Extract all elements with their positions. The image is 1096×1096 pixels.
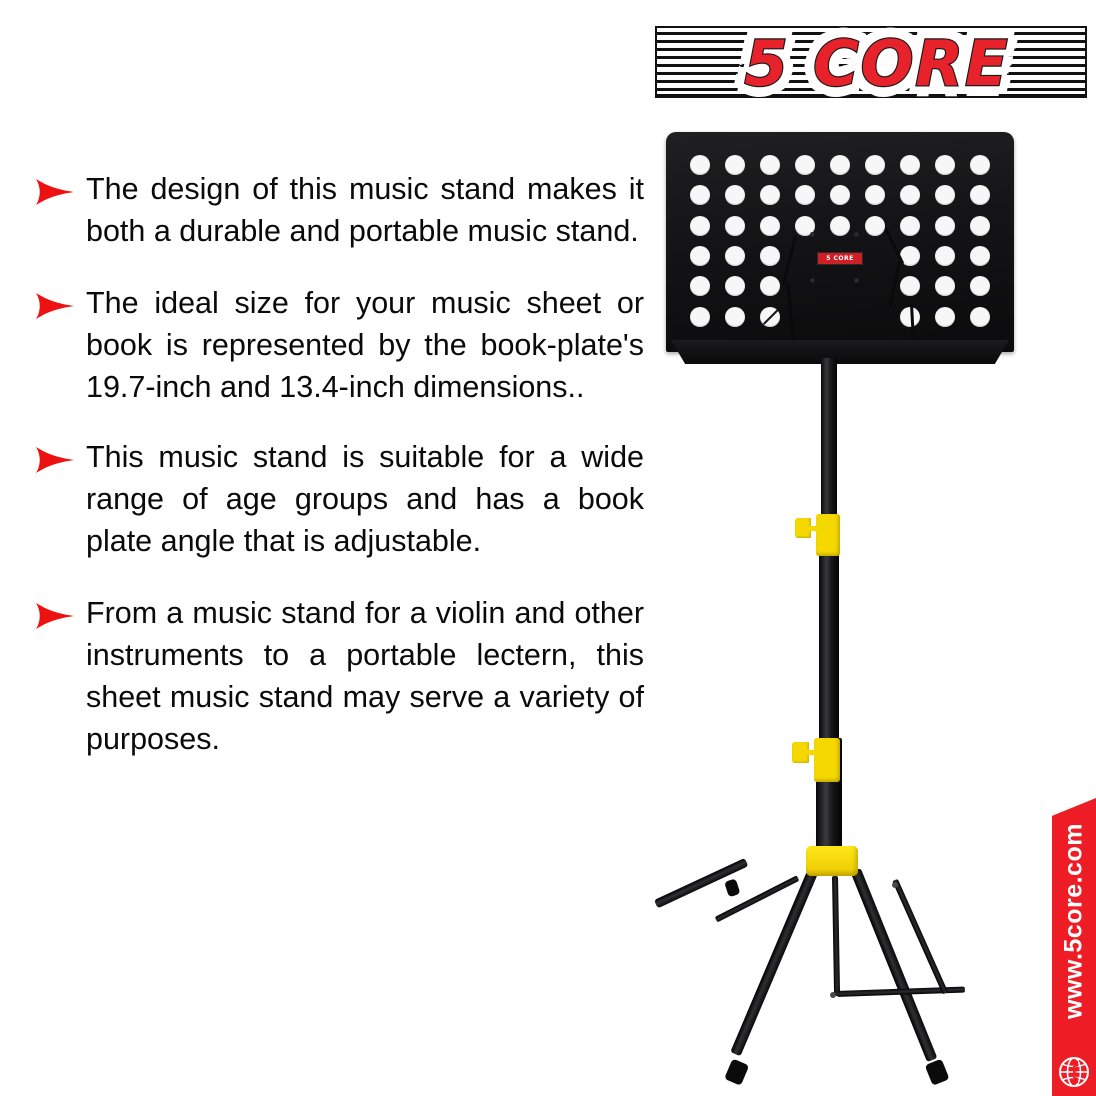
brand-logo-text: 5 CORE [707, 18, 1047, 108]
plate-screw [810, 232, 815, 237]
tripod-joint-bottom [830, 992, 836, 998]
plate-hole [725, 246, 745, 266]
plate-hole [970, 246, 990, 266]
plate-hole [795, 185, 815, 205]
book-plate-lip [664, 340, 1016, 364]
plate-hole [900, 185, 920, 205]
plate-hole [760, 307, 780, 327]
music-stand-photo: 5 CORE [640, 118, 1040, 1078]
red-arrow-bullet-icon [34, 601, 76, 631]
plate-hole [970, 307, 990, 327]
tripod-foot-back-left [724, 878, 740, 897]
plate-hole [830, 276, 850, 296]
plate-hole [690, 185, 710, 205]
brand-logo: 5 CORE 5 CORE 5 CORE [655, 22, 1087, 102]
plate-hole [690, 307, 710, 327]
plate-hole [900, 155, 920, 175]
list-item-label: The design of this music stand makes it … [86, 168, 644, 252]
website-banner[interactable]: www.5core.com www [1052, 798, 1096, 1096]
height-clamp-lower[interactable] [814, 738, 840, 782]
plate-hole [690, 155, 710, 175]
plate-hole [935, 246, 955, 266]
plate-hole [970, 155, 990, 175]
plate-hole [900, 216, 920, 236]
tripod-leg-front-left [730, 868, 818, 1056]
height-clamp-lower-stem [802, 750, 818, 755]
list-item: From a music stand for a violin and othe… [34, 592, 644, 760]
list-item: The ideal size for your music sheet or b… [34, 282, 644, 408]
plate-hole [760, 246, 780, 266]
plate-hole [795, 246, 815, 266]
plate-brand-label: 5 CORE [817, 252, 863, 265]
plate-hole [725, 216, 745, 236]
red-arrow-bullet-icon [34, 445, 76, 475]
plate-hole [900, 276, 920, 296]
plate-hole [865, 307, 885, 327]
plate-hole [865, 246, 885, 266]
plate-hole [830, 155, 850, 175]
tripod-leg-right [850, 868, 937, 1062]
promo-image-canvas: 5 CORE 5 CORE 5 CORE The design of this … [0, 0, 1096, 1096]
www-globe-icon: www [1058, 1056, 1090, 1088]
red-arrow-bullet-icon [34, 291, 76, 321]
plate-hole [970, 276, 990, 296]
plate-hole [865, 155, 885, 175]
feature-list: The design of this music stand makes it … [34, 168, 644, 760]
plate-hole [935, 307, 955, 327]
plate-hole [760, 185, 780, 205]
plate-hole [865, 185, 885, 205]
plate-hole [865, 216, 885, 236]
plate-hole [935, 276, 955, 296]
plate-hole [690, 276, 710, 296]
list-item: This music stand is suitable for a wide … [34, 436, 644, 562]
tripod-collar [806, 846, 858, 876]
list-item-label: From a music stand for a violin and othe… [86, 592, 644, 760]
tripod-joint-right [892, 882, 898, 888]
plate-hole [725, 276, 745, 296]
book-plate-hole-grid [682, 150, 998, 332]
list-item: The design of this music stand makes it … [34, 168, 644, 252]
plate-hole [830, 185, 850, 205]
plate-hole [830, 216, 850, 236]
plate-hole [725, 185, 745, 205]
plate-hole [760, 216, 780, 236]
list-item-label: The ideal size for your music sheet or b… [86, 282, 644, 408]
book-plate: 5 CORE [666, 132, 1014, 352]
tripod-foot-front-left [724, 1058, 749, 1085]
list-item-label: This music stand is suitable for a wide … [86, 436, 644, 562]
height-clamp-upper-stem [804, 526, 820, 531]
plate-hole [970, 216, 990, 236]
plate-hole [865, 276, 885, 296]
plate-hole [690, 246, 710, 266]
plate-hole [725, 155, 745, 175]
plate-hole [795, 155, 815, 175]
plate-screw [854, 278, 859, 283]
plate-hole [935, 155, 955, 175]
plate-hole [935, 185, 955, 205]
plate-screw [810, 278, 815, 283]
plate-hole [935, 216, 955, 236]
svg-text:www: www [1071, 1060, 1081, 1085]
red-arrow-bullet-icon [34, 177, 76, 207]
tripod-center-brace [832, 876, 840, 996]
plate-hole [725, 307, 745, 327]
website-url-text: www.5core.com [1060, 823, 1089, 1071]
plate-hole [795, 307, 815, 327]
height-clamp-upper[interactable] [816, 514, 840, 556]
plate-hole [830, 307, 850, 327]
plate-hole [760, 155, 780, 175]
plate-hole [760, 276, 780, 296]
plate-hole [970, 185, 990, 205]
plate-hole [690, 216, 710, 236]
tripod-foot-right [925, 1059, 950, 1086]
plate-screw [854, 232, 859, 237]
